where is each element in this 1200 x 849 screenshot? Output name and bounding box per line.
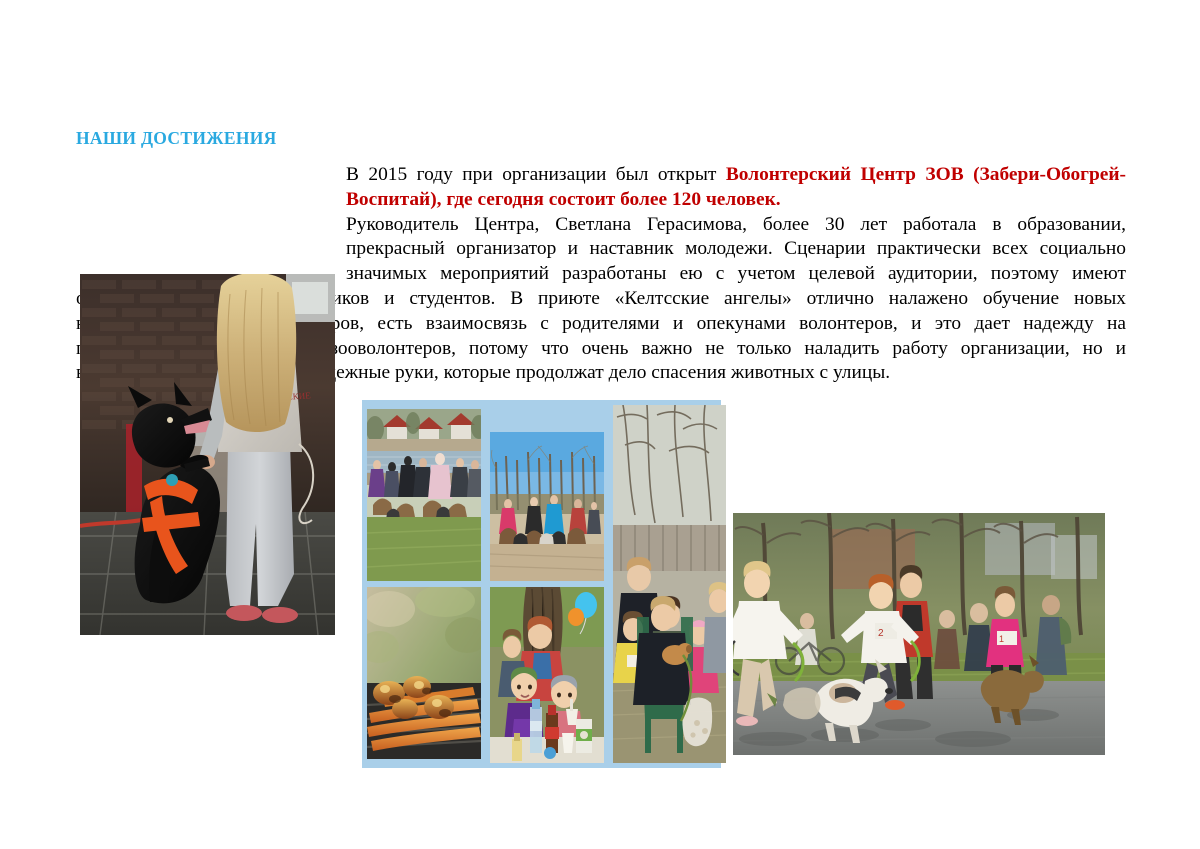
volunteer-events-collage — [362, 400, 721, 768]
photo-girl-training-black-dog: КЕЛТССКИЕ . — [80, 274, 335, 635]
collage-tile-lake-walk — [367, 409, 481, 581]
picnic-children-artwork — [490, 587, 604, 763]
page-title: НАШИ ДОСТИЖЕНИЯ — [76, 128, 277, 149]
paragraph-opening-lead: В 2015 году при организации был открыт — [346, 164, 726, 185]
collage-tile-people-with-dog — [613, 405, 726, 763]
girl-training-black-dog-artwork: КЕЛТССКИЕ . — [80, 274, 335, 635]
svg-text:1: 1 — [999, 634, 1004, 644]
collage-grid — [367, 405, 716, 763]
slide-canvas: НАШИ ДОСТИЖЕНИЯ В 2015 году при организа… — [0, 0, 1200, 849]
lake-walk-artwork — [367, 409, 481, 581]
dog-race-run-artwork: 1 — [733, 513, 1105, 755]
collage-tile-picnic-children — [490, 587, 604, 763]
collage-tile-grill-sausages — [367, 587, 481, 759]
photo-dog-race-run: 1 — [733, 513, 1105, 755]
left-photo-text-wrap-spacer — [76, 163, 346, 281]
people-with-dog-artwork — [613, 405, 726, 763]
forest-path-dogs-artwork — [490, 432, 604, 581]
svg-text:2: 2 — [878, 628, 884, 639]
collage-tile-forest-path-dogs — [490, 432, 604, 581]
grill-sausages-artwork — [367, 587, 481, 759]
